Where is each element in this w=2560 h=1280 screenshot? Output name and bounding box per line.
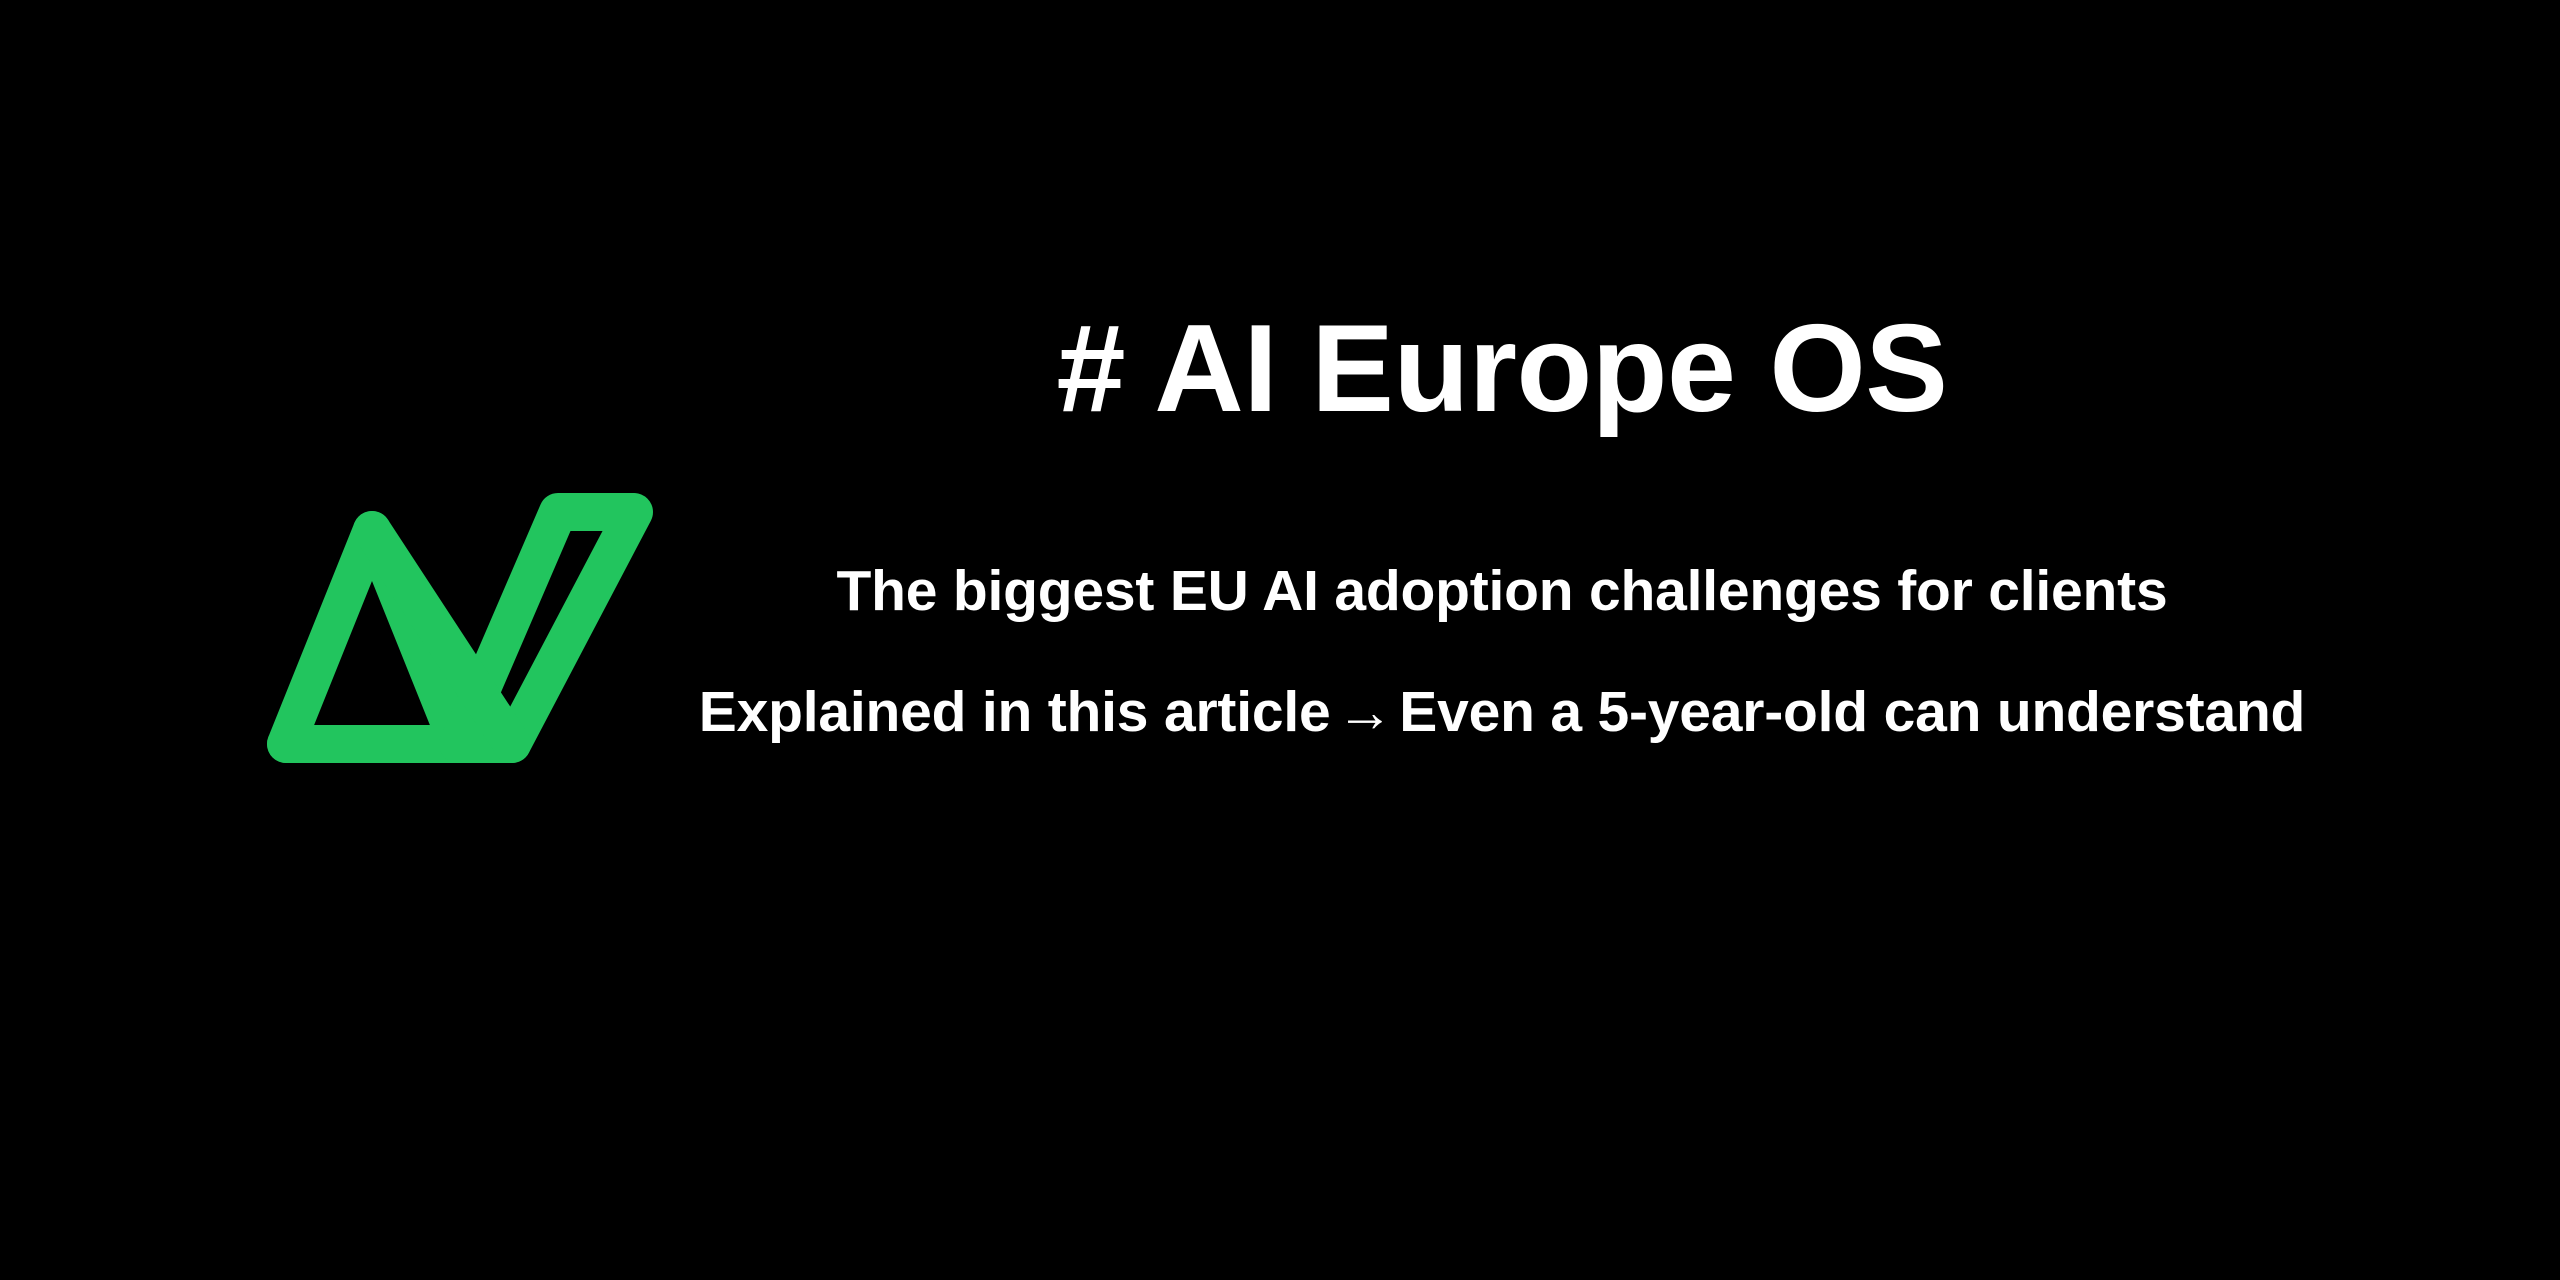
cover-subtitle: The biggest EU AI adoption challenges fo…	[600, 439, 2404, 625]
brand-logo	[262, 488, 658, 768]
cover-tagline: Explained in this article→Even a 5-year-…	[600, 625, 2404, 746]
cover-canvas: # AI Europe OS The biggest EU AI adoptio…	[0, 0, 2560, 1280]
tagline-lead-text: Explained in this article	[699, 680, 1331, 744]
hero-text-stack: # AI Europe OS The biggest EU AI adoptio…	[600, 300, 2404, 747]
arrow-right-icon: →	[1330, 678, 1399, 746]
page-title: # AI Europe OS	[600, 300, 2404, 439]
tagline-trail-text: Even a 5-year-old can understand	[1399, 680, 2305, 744]
nexus-n-monogram-icon	[262, 488, 658, 768]
